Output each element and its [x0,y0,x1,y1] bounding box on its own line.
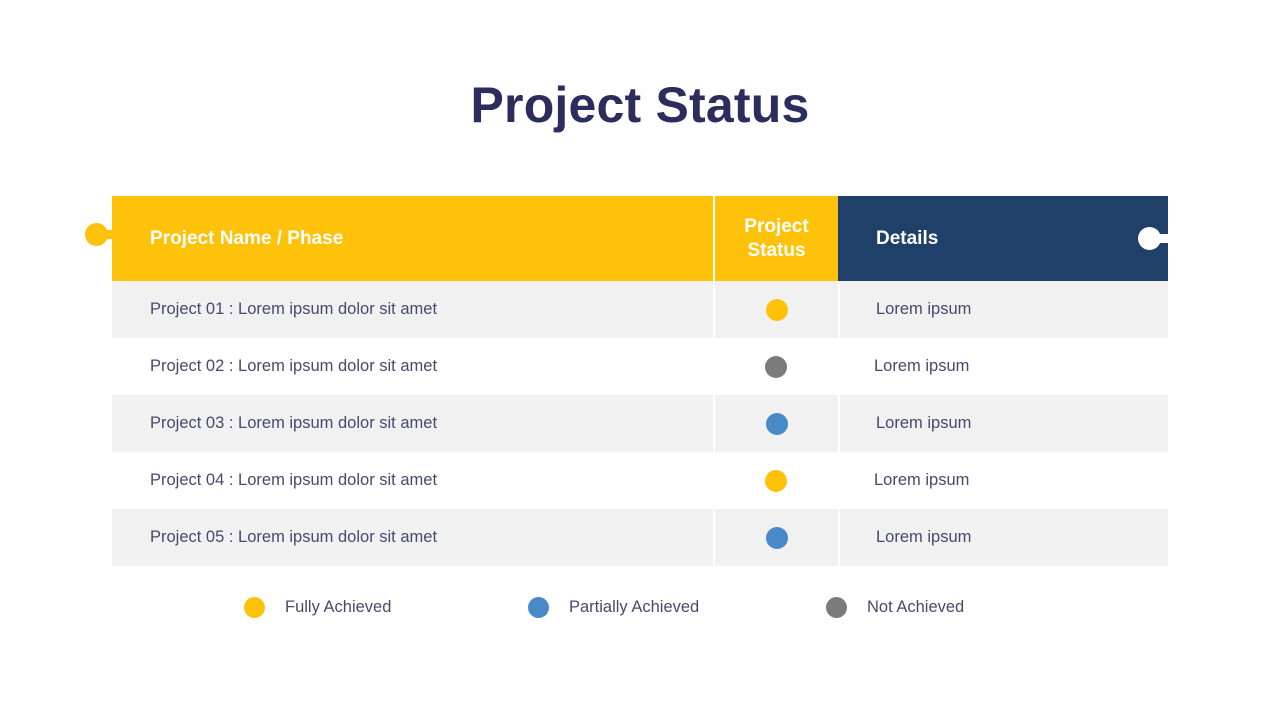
cell-project-name: Project 04 : Lorem ipsum dolor sit amet [112,452,713,509]
column-header-project-status[interactable]: Project Status [713,196,838,281]
column-header-details[interactable]: Details [838,196,1168,281]
puzzle-notch-knob-right-icon [1138,227,1161,250]
slide-canvas: Project Status Project Name / Phase Proj… [0,0,1280,720]
table-row[interactable]: Project 05 : Lorem ipsum dolor sit amet … [112,509,1168,566]
table-header-row: Project Name / Phase Project Status Deta… [112,196,1168,281]
legend: Fully Achieved Partially Achieved Not Ac… [112,597,1168,618]
column-header-project-status-label: Project Status [744,215,808,263]
project-status-table: Project Name / Phase Project Status Deta… [112,196,1168,566]
column-header-project-name-label: Project Name / Phase [150,228,343,250]
status-dot-icon [528,597,549,618]
cell-project-name: Project 01 : Lorem ipsum dolor sit amet [112,281,713,338]
cell-details: Lorem ipsum [838,338,1168,395]
cell-project-name: Project 05 : Lorem ipsum dolor sit amet [112,509,713,566]
status-dot-icon [766,413,788,435]
status-dot-icon [765,470,787,492]
status-dot-icon [766,527,788,549]
cell-project-status [713,338,838,395]
status-dot-icon [826,597,847,618]
cell-project-name: Project 02 : Lorem ipsum dolor sit amet [112,338,713,395]
table-row[interactable]: Project 01 : Lorem ipsum dolor sit amet … [112,281,1168,338]
column-header-status-line1: Project [744,216,808,237]
status-dot-icon [766,299,788,321]
legend-item-partially-achieved: Partially Achieved [418,597,724,618]
cell-details: Lorem ipsum [838,509,1168,566]
cell-project-status [713,452,838,509]
page-title: Project Status [0,72,1280,138]
cell-project-status [713,395,838,452]
cell-project-name: Project 03 : Lorem ipsum dolor sit amet [112,395,713,452]
column-header-status-line2: Status [747,240,805,261]
cell-project-status [713,509,838,566]
column-header-details-label: Details [876,228,938,250]
legend-label-not-achieved: Not Achieved [867,598,964,617]
puzzle-tab-knob-left-icon [85,223,108,246]
status-dot-icon [244,597,265,618]
table-row[interactable]: Project 02 : Lorem ipsum dolor sit amet … [112,338,1168,395]
table-row[interactable]: Project 03 : Lorem ipsum dolor sit amet … [112,395,1168,452]
cell-project-status [713,281,838,338]
cell-details: Lorem ipsum [838,452,1168,509]
status-dot-icon [765,356,787,378]
legend-label-fully-achieved: Fully Achieved [285,598,391,617]
cell-details: Lorem ipsum [838,281,1168,338]
cell-details: Lorem ipsum [838,395,1168,452]
table-row[interactable]: Project 04 : Lorem ipsum dolor sit amet … [112,452,1168,509]
column-header-project-name[interactable]: Project Name / Phase [112,196,713,281]
legend-item-fully-achieved: Fully Achieved [112,597,418,618]
table-body: Project 01 : Lorem ipsum dolor sit amet … [112,281,1168,566]
legend-item-not-achieved: Not Achieved [724,597,1030,618]
legend-label-partially-achieved: Partially Achieved [569,598,699,617]
